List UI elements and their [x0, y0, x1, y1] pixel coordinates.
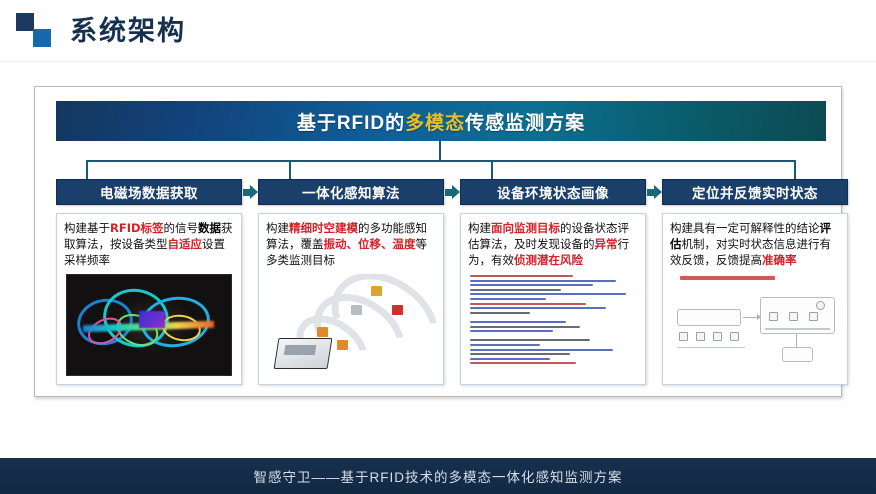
stage-panel-1: 构建基于RFID标签的信号数据获取算法，按设备类型自适应设置采样频率 — [56, 213, 242, 385]
code-line-gap — [470, 316, 487, 318]
stage-figure-4 — [670, 274, 840, 378]
text-run: 异常 — [595, 237, 618, 251]
code-line — [470, 284, 593, 286]
code-line — [470, 344, 540, 346]
tagged-item-icon — [392, 305, 403, 315]
stage-header-label-3: 设备环境状态画像 — [497, 182, 609, 202]
code-line — [470, 303, 586, 305]
solution-banner: 基于RFID的多模态传感监测方案 — [56, 101, 826, 141]
rfid-reader-waves-diagram — [266, 274, 436, 378]
code-line — [470, 326, 580, 328]
diagram-title-bar — [680, 276, 775, 280]
banner-highlight: 多模态 — [405, 113, 465, 134]
architecture-card: 基于RFID的多模态传感监测方案 电磁场数据获取 构建基于RFID标签的信号数据… — [34, 86, 842, 397]
stage-panel-3: 构建面向监测目标的设备状态评估算法，及时发现设备的异常行为，有效侦测潜在风险 — [460, 213, 646, 385]
diagram-node-bottom — [782, 347, 813, 363]
diagram-icon — [679, 332, 688, 341]
tagged-item-icon — [337, 340, 348, 350]
text-run: 自适应 — [168, 237, 203, 251]
stage-header-label-1: 电磁场数据获取 — [100, 182, 198, 202]
light-core — [139, 311, 165, 328]
diagram-icon — [769, 312, 778, 321]
slide-root: 系统架构 基于RFID的多模态传感监测方案 电磁场数据获取 构建基于RFID标签… — [0, 0, 876, 494]
system-architecture-diagram — [670, 274, 840, 378]
diagram-icon — [696, 332, 705, 341]
connector-drop-3 — [491, 161, 493, 179]
tagged-item-icon — [317, 327, 328, 337]
stage-figure-3 — [468, 274, 638, 378]
header-divider — [0, 61, 876, 62]
connector-bus — [86, 160, 796, 162]
code-line — [470, 312, 530, 314]
code-line — [470, 275, 573, 277]
code-line — [470, 353, 570, 355]
stage-panel-2: 构建精细时空建模的多功能感知算法，覆盖振动、位移、温度等多类监测目标 — [258, 213, 444, 385]
text-run: 构建 — [468, 221, 491, 235]
stage-text-1: 构建基于RFID标签的信号数据获取算法，按设备类型自适应设置采样频率 — [64, 220, 234, 268]
stage-column-4: 定位并反馈实时状态 构建具有一定可解释性的结论评估机制，对实时状态信息进行有效反… — [662, 179, 848, 385]
slide-footer: 智感守卫——基于RFID技术的多模态一体化感知监测方案 — [0, 458, 876, 494]
diagram-connector — [796, 334, 798, 346]
diagram-caption-rule — [765, 328, 830, 330]
diagram-node-left — [677, 309, 742, 326]
text-run: 机制，对实时状态信息进行有效反馈，反馈提高 — [670, 237, 831, 267]
code-line — [470, 321, 566, 323]
text-run: 数据 — [198, 221, 221, 235]
code-line — [470, 298, 546, 300]
solution-banner-text: 基于RFID的多模态传感监测方案 — [297, 108, 585, 135]
connector-stem — [439, 141, 441, 161]
diagram-caption-rule — [677, 347, 745, 349]
stage-arrow-1 — [242, 179, 258, 200]
stage-text-3: 构建面向监测目标的设备状态评估算法，及时发现设备的异常行为，有效侦测潜在风险 — [468, 220, 638, 268]
connector-drop-2 — [289, 161, 291, 179]
stage-header-4[interactable]: 定位并反馈实时状态 — [662, 179, 848, 205]
stage-text-2: 构建精细时空建模的多功能感知算法，覆盖振动、位移、温度等多类监测目标 — [266, 220, 436, 268]
page-title: 系统架构 — [70, 18, 186, 45]
connector-drop-1 — [86, 161, 88, 179]
banner-suffix: 传感监测方案 — [465, 113, 585, 134]
stage-figure-2 — [266, 274, 436, 378]
logo-mark — [16, 11, 62, 51]
stage-panel-4: 构建具有一定可解释性的结论评估机制，对实时状态信息进行有效反馈，反馈提高准确率 — [662, 213, 848, 385]
bright-square-icon — [33, 29, 51, 47]
text-run: RFID标签 — [110, 221, 164, 235]
rfid-reader-icon — [274, 338, 333, 369]
stage-column-3: 设备环境状态画像 构建面向监测目标的设备状态评估算法，及时发现设备的异常行为，有… — [460, 179, 646, 385]
text-run: 的信号 — [164, 221, 199, 235]
stage-header-3[interactable]: 设备环境状态画像 — [460, 179, 646, 205]
banner-prefix: 基于RFID的 — [297, 113, 405, 134]
text-run: 振动、位移、温度 — [324, 237, 416, 251]
code-line — [470, 307, 606, 309]
diagram-arrowhead-icon — [757, 314, 761, 320]
text-run: 精细时空建模 — [289, 221, 358, 235]
code-line-gap — [470, 335, 487, 337]
diagram-icon — [713, 332, 722, 341]
text-run: 侦测潜在风险 — [514, 253, 583, 267]
connector-drop-4 — [794, 161, 796, 179]
stage-figure-1 — [64, 274, 234, 378]
text-run: 准确率 — [762, 253, 797, 267]
slide-header: 系统架构 — [0, 0, 876, 62]
stage-header-label-4: 定位并反馈实时状态 — [692, 182, 818, 202]
stage-columns: 电磁场数据获取 构建基于RFID标签的信号数据获取算法，按设备类型自适应设置采样… — [56, 179, 826, 385]
code-line — [470, 349, 613, 351]
stage-header-label-2: 一体化感知算法 — [302, 182, 400, 202]
text-run: 构建基于 — [64, 221, 110, 235]
tagged-item-icon — [371, 286, 382, 296]
code-listing-screenshot — [468, 274, 638, 378]
diagram-icon — [789, 312, 798, 321]
dark-square-icon — [16, 13, 34, 31]
light-painting-photo — [66, 274, 232, 376]
tagged-item-icon — [351, 305, 362, 315]
code-line — [470, 289, 561, 291]
stage-arrow-2 — [444, 179, 460, 200]
stage-header-1[interactable]: 电磁场数据获取 — [56, 179, 242, 205]
diagram-icon — [730, 332, 739, 341]
right-arrow-icon — [243, 185, 258, 200]
right-arrow-icon — [445, 185, 460, 200]
stage-text-4: 构建具有一定可解释性的结论评估机制，对实时状态信息进行有效反馈，反馈提高准确率 — [670, 220, 840, 268]
code-line — [470, 339, 590, 341]
text-run: 面向监测目标 — [491, 221, 560, 235]
code-line — [470, 280, 616, 282]
text-run: 构建 — [266, 221, 289, 235]
footer-text: 智感守卫——基于RFID技术的多模态一体化感知监测方案 — [254, 466, 623, 486]
code-line — [470, 358, 550, 360]
code-line — [470, 293, 626, 295]
diagram-icon — [809, 312, 818, 321]
stage-arrow-3 — [646, 179, 662, 200]
code-line — [470, 362, 576, 364]
stage-column-1: 电磁场数据获取 构建基于RFID标签的信号数据获取算法，按设备类型自适应设置采样… — [56, 179, 242, 385]
code-line — [470, 330, 553, 332]
right-arrow-icon — [647, 185, 662, 200]
text-run: 构建具有一定可解释性的结论 — [670, 221, 820, 235]
stage-header-2[interactable]: 一体化感知算法 — [258, 179, 444, 205]
stage-column-2: 一体化感知算法 构建精细时空建模的多功能感知算法，覆盖振动、位移、温度等多类监测… — [258, 179, 444, 385]
